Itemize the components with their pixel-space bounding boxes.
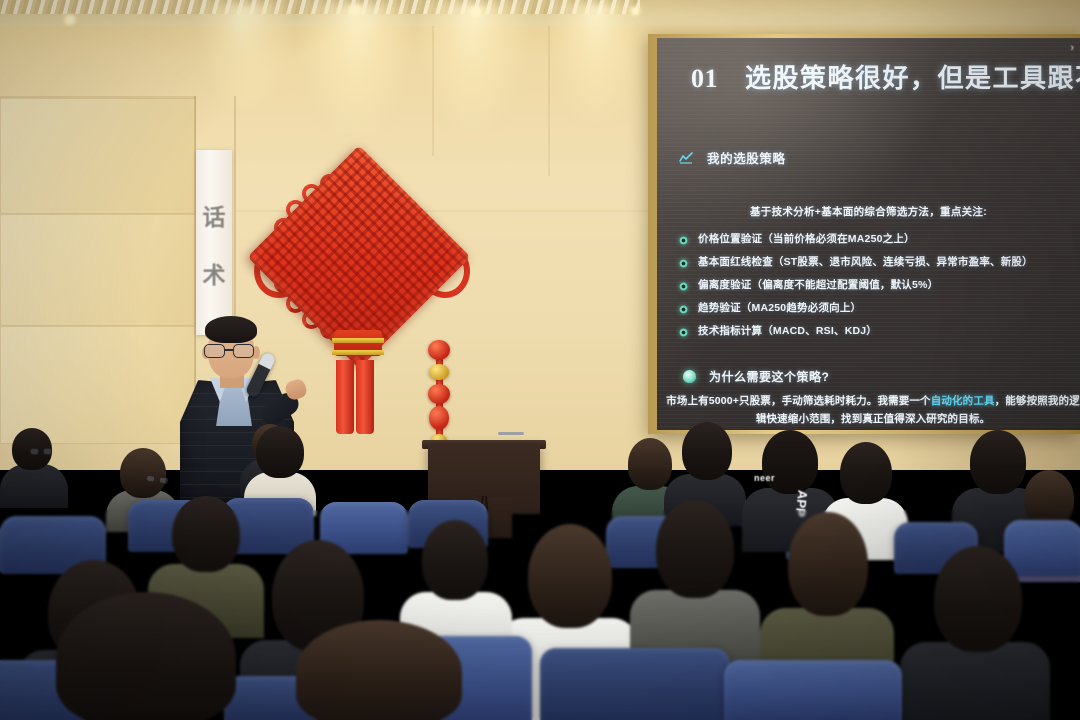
audience-head (840, 442, 892, 504)
auditorium-seat (540, 648, 730, 720)
audience-member (630, 500, 760, 670)
auditorium-seat (724, 660, 902, 720)
audience-member (296, 620, 462, 720)
audience-head (934, 546, 1022, 652)
audience-head (656, 500, 734, 598)
shirt-logo-text: neer (754, 473, 775, 483)
audience-head (172, 496, 240, 572)
audience-head (296, 620, 462, 720)
audience-head (56, 592, 236, 720)
audience-head (788, 512, 868, 616)
audience-head (682, 422, 732, 480)
conference-room-photo: 话 术 (0, 0, 1080, 720)
audience-head (762, 430, 818, 494)
audience-member (900, 546, 1050, 720)
audience-head (120, 448, 166, 498)
audience: APP neer (0, 0, 1080, 720)
audience-head (422, 520, 488, 600)
audience-body (0, 464, 68, 508)
audience-member (56, 592, 236, 720)
audience-head (256, 426, 304, 478)
audience-head (528, 524, 612, 628)
audience-body (900, 642, 1050, 720)
audience-member (0, 428, 68, 506)
audience-glasses (30, 448, 52, 455)
